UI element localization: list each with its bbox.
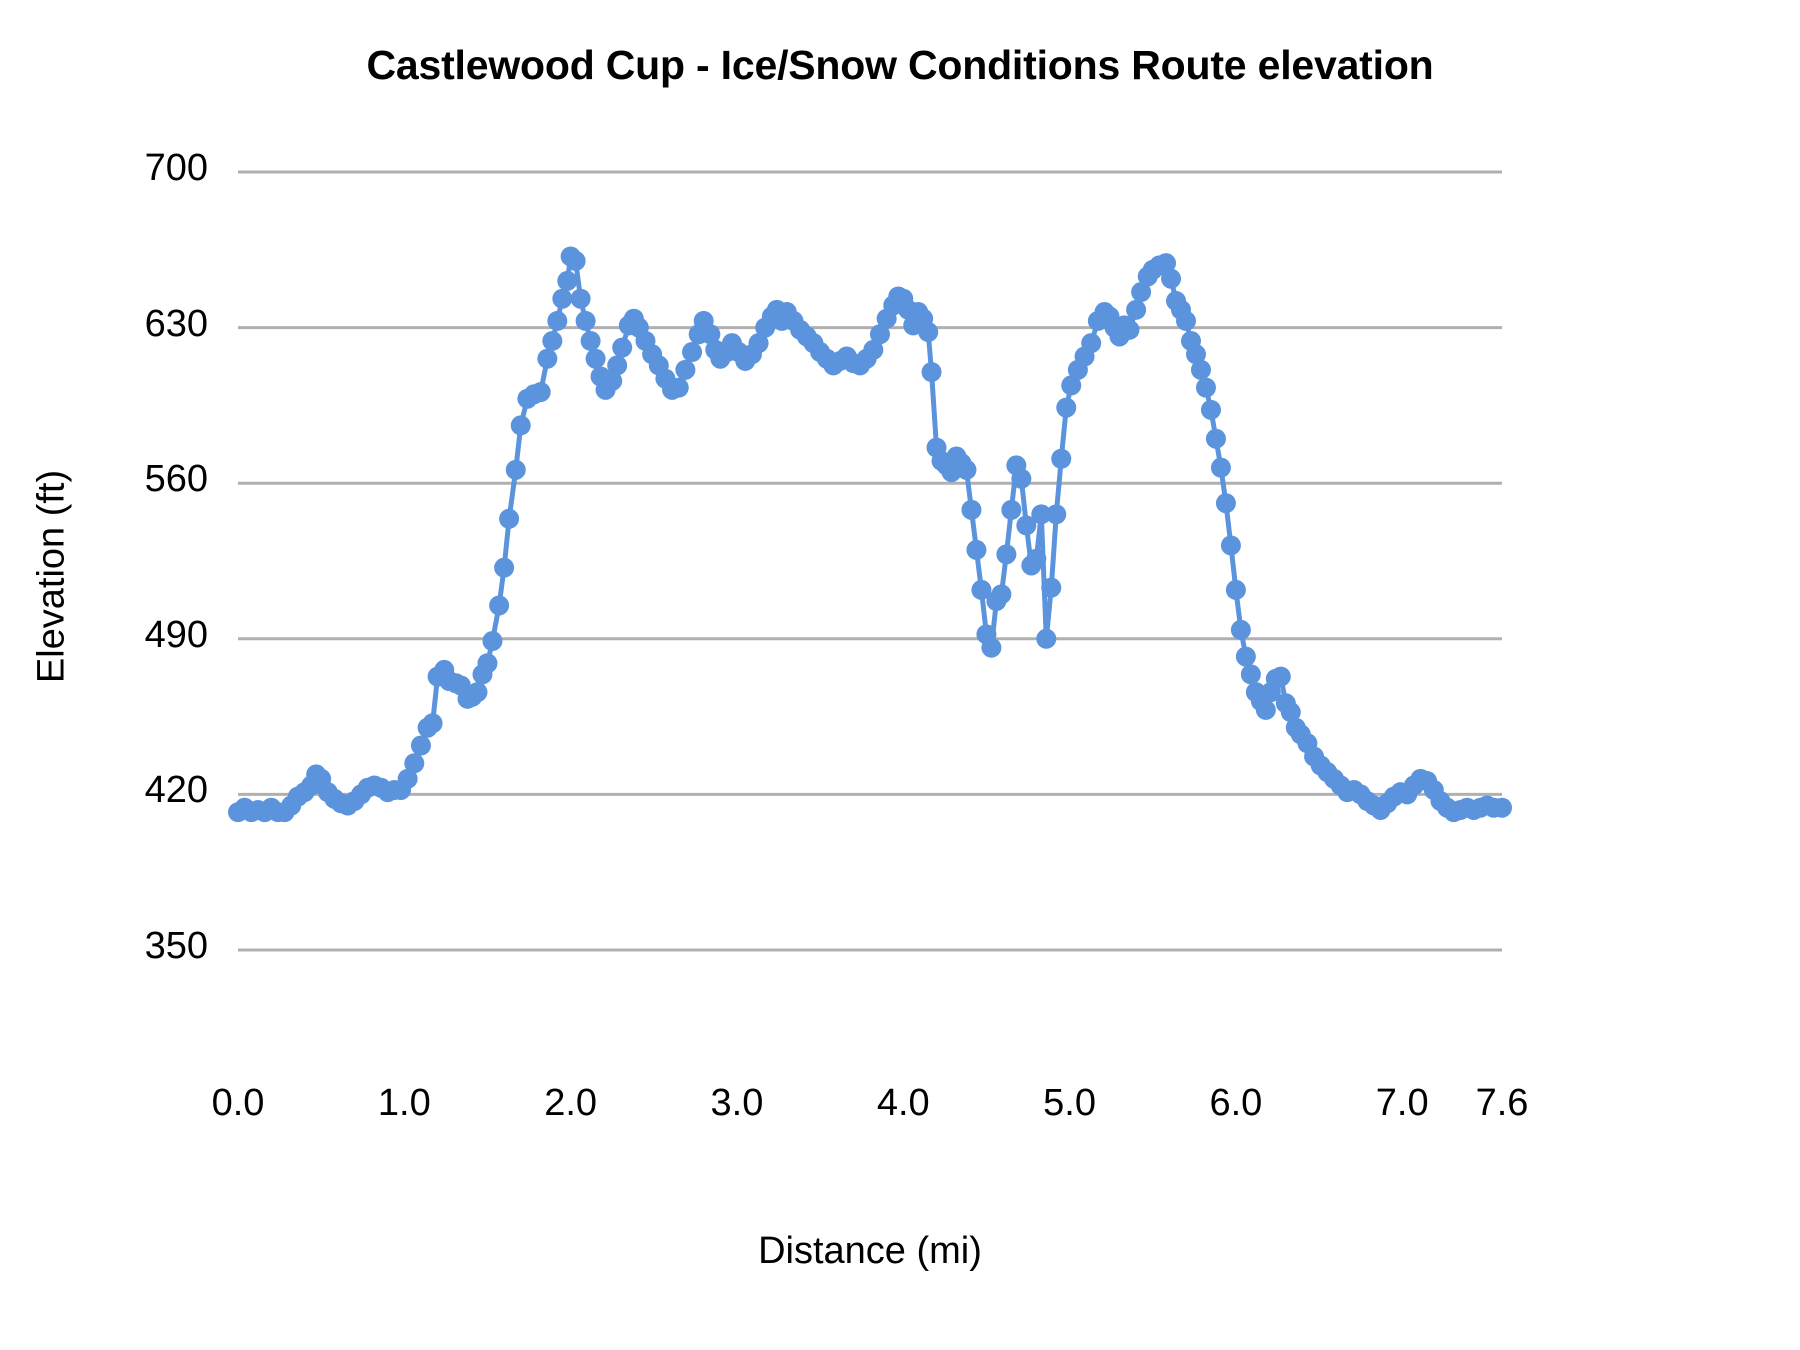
data-point: [1236, 647, 1256, 667]
data-point: [511, 415, 531, 435]
data-point: [581, 331, 601, 351]
data-point: [612, 338, 632, 358]
data-point: [537, 349, 557, 369]
data-point: [1041, 578, 1061, 598]
data-point: [1231, 620, 1251, 640]
data-point: [1001, 500, 1021, 520]
data-point: [1119, 320, 1139, 340]
x-tick-label: 1.0: [334, 1082, 474, 1125]
data-point: [586, 349, 606, 369]
data-point: [1011, 469, 1031, 489]
data-point: [1216, 493, 1236, 513]
elevation-markers: [228, 246, 1512, 822]
data-point: [404, 753, 424, 773]
data-point: [1211, 458, 1231, 478]
x-tick-label: 4.0: [833, 1082, 973, 1125]
data-point: [547, 311, 567, 331]
data-point: [506, 460, 526, 480]
data-point: [1206, 429, 1226, 449]
data-point: [1056, 398, 1076, 418]
x-tick-label: 3.0: [667, 1082, 807, 1125]
data-point: [1051, 449, 1071, 469]
data-point: [557, 271, 577, 291]
data-point: [1081, 333, 1101, 353]
data-point: [1026, 549, 1046, 569]
data-point: [1492, 798, 1512, 818]
data-point: [607, 355, 627, 375]
y-tick-label: 350: [80, 925, 208, 968]
data-point: [675, 360, 695, 380]
data-point: [1241, 664, 1261, 684]
x-tick-label: 5.0: [1000, 1082, 1140, 1125]
data-point: [552, 289, 572, 309]
data-point: [1036, 629, 1056, 649]
elevation-chart: Castlewood Cup - Ice/Snow Conditions Rou…: [0, 0, 1800, 1350]
gridlines: [238, 172, 1502, 950]
data-point: [981, 638, 1001, 658]
data-point: [966, 540, 986, 560]
x-tick-label: 6.0: [1166, 1082, 1306, 1125]
data-point: [477, 653, 497, 673]
data-point: [467, 682, 487, 702]
data-point: [961, 500, 981, 520]
y-tick-label: 490: [80, 614, 208, 657]
data-point: [1191, 360, 1211, 380]
y-tick-label: 420: [80, 769, 208, 812]
data-point: [1221, 535, 1241, 555]
x-tick-label: 0.0: [168, 1082, 308, 1125]
data-point: [1256, 700, 1276, 720]
x-axis-title: Distance (mi): [240, 1230, 1500, 1273]
data-point: [1046, 504, 1066, 524]
data-point: [571, 289, 591, 309]
data-point: [996, 544, 1016, 564]
data-point: [1196, 378, 1216, 398]
x-tick-label: 7.6: [1432, 1082, 1572, 1125]
data-point: [991, 584, 1011, 604]
data-point: [1126, 300, 1146, 320]
data-point: [1226, 580, 1246, 600]
data-point: [682, 342, 702, 362]
plot-area: [0, 0, 1800, 1350]
data-point: [1201, 400, 1221, 420]
data-point: [411, 736, 431, 756]
y-tick-label: 700: [80, 147, 208, 190]
data-point: [669, 378, 689, 398]
data-point: [566, 251, 586, 271]
x-tick-label: 2.0: [501, 1082, 641, 1125]
data-point: [499, 509, 519, 529]
data-point: [576, 311, 596, 331]
data-point: [494, 558, 514, 578]
data-point: [542, 331, 562, 351]
data-point: [423, 713, 443, 733]
data-point: [1271, 667, 1291, 687]
data-point: [489, 595, 509, 615]
data-point: [482, 631, 502, 651]
data-point: [956, 460, 976, 480]
y-tick-label: 560: [80, 458, 208, 501]
data-point: [1161, 269, 1181, 289]
data-point: [531, 382, 551, 402]
y-tick-label: 630: [80, 303, 208, 346]
y-axis-title: Elevation (ft): [31, 377, 74, 777]
data-point: [918, 322, 938, 342]
data-point: [922, 362, 942, 382]
data-point: [1176, 311, 1196, 331]
